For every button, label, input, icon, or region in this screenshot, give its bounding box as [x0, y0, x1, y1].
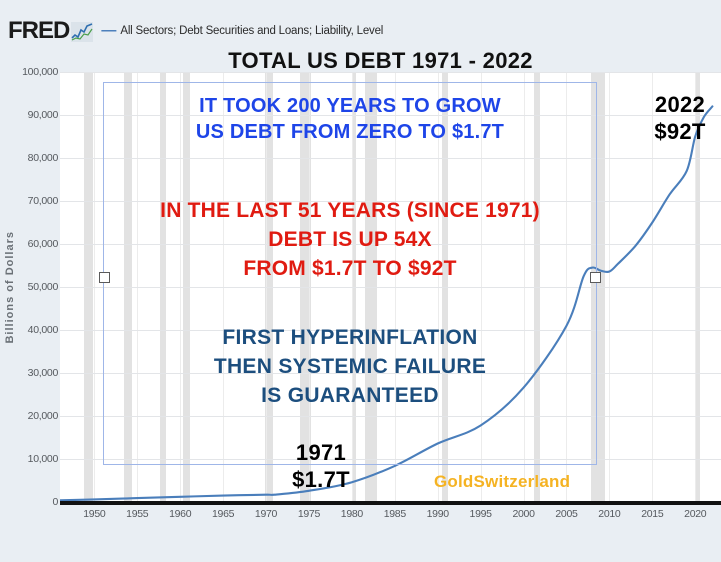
x-tick-label: 2000: [512, 508, 534, 520]
legend-series-label: All Sectors; Debt Securities and Loans; …: [120, 25, 383, 37]
x-tick-label: 2015: [641, 508, 663, 520]
annotation-red-line-3: FROM $1.7T TO $92T: [104, 257, 596, 281]
x-tick-label: 1995: [470, 508, 492, 520]
x-tick-label: 1965: [212, 508, 234, 520]
x-tick-label: 1980: [341, 508, 363, 520]
chart-screenshot: FRED — All Sectors; Debt Securities and …: [0, 0, 721, 562]
x-tick-label: 1950: [83, 508, 105, 520]
y-tick-label: 30,000: [28, 367, 58, 379]
x-tick-label: 1970: [255, 508, 277, 520]
start-year-text: 1971: [256, 440, 386, 467]
x-tick-label: 1985: [384, 508, 406, 520]
annotation-navy-line-3: IS GUARANTEED: [104, 384, 596, 408]
y-tick-label: 20,000: [28, 410, 58, 422]
fred-logo: FRED: [8, 20, 69, 42]
x-axis-line: [60, 501, 721, 505]
y-tick-label: 40,000: [28, 324, 58, 336]
x-tick-label: 1990: [427, 508, 449, 520]
annotation-red-line-1: IN THE LAST 51 YEARS (SINCE 1971): [104, 199, 596, 223]
watermark-goldswitzerland: GoldSwitzerland: [434, 472, 570, 492]
annotation-textbox[interactable]: IT TOOK 200 YEARS TO GROW US DEBT FROM Z…: [103, 82, 597, 465]
y-tick-label: 80,000: [28, 152, 58, 164]
y-axis-label-text: Billions of Dollars: [4, 231, 16, 344]
plot-area: 010,00020,00030,00040,00050,00060,00070,…: [60, 72, 721, 502]
y-tick-label: 70,000: [28, 195, 58, 207]
y-tick-label: 50,000: [28, 281, 58, 293]
start-value-text: $1.7T: [256, 467, 386, 494]
annotation-navy-line-1: FIRST HYPERINFLATION: [104, 326, 596, 350]
page-title: TOTAL US DEBT 1971 - 2022: [0, 48, 721, 74]
end-value-text: $92T: [634, 119, 721, 146]
y-tick-label: 100,000: [22, 66, 58, 78]
y-axis-label: Billions of Dollars: [4, 72, 16, 502]
legend-line-swatch: —: [101, 24, 116, 38]
x-tick-label: 2020: [684, 508, 706, 520]
end-year-text: 2022: [634, 92, 721, 119]
y-tick-label: 60,000: [28, 238, 58, 250]
x-tick-label: 1975: [298, 508, 320, 520]
annotation-red-line-2: DEBT IS UP 54X: [104, 228, 596, 252]
sparkline-icon: [71, 22, 93, 42]
x-tick-label: 2005: [555, 508, 577, 520]
x-tick-label: 1960: [169, 508, 191, 520]
annotation-navy-line-2: THEN SYSTEMIC FAILURE: [104, 355, 596, 379]
end-point-label: 2022 $92T: [634, 92, 721, 146]
annotation-blue-line-2: US DEBT FROM ZERO TO $1.7T: [104, 121, 596, 144]
fred-header: FRED — All Sectors; Debt Securities and …: [8, 18, 383, 44]
y-tick-label: 10,000: [28, 453, 58, 465]
x-tick-label: 2010: [598, 508, 620, 520]
y-tick-label: 90,000: [28, 109, 58, 121]
annotation-blue-line-1: IT TOOK 200 YEARS TO GROW: [104, 95, 596, 118]
x-tick-label: 1955: [126, 508, 148, 520]
start-point-label: 1971 $1.7T: [256, 440, 386, 494]
y-tick-label: 0: [52, 496, 58, 508]
